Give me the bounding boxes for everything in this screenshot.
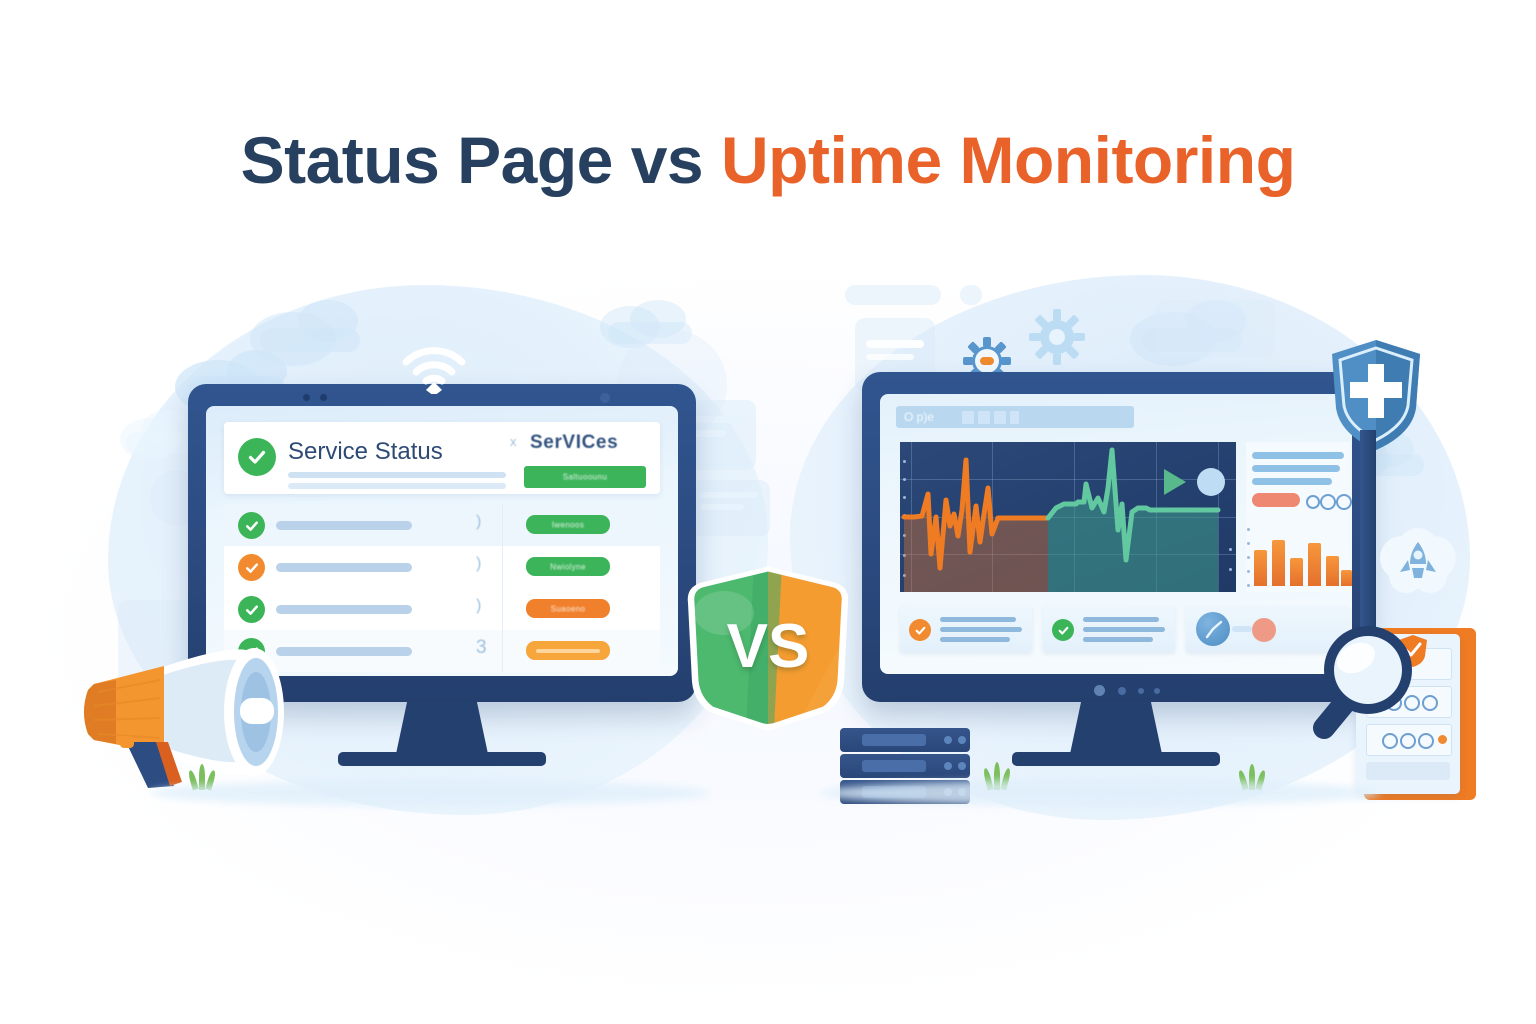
chart-series-svg: [900, 442, 1236, 592]
rocket-icon: [1376, 528, 1460, 607]
row-marker: 3: [476, 637, 487, 659]
bar-chart-bar: [1272, 540, 1285, 586]
skeleton-line: [940, 627, 1022, 632]
skeleton-line: [276, 605, 412, 614]
side-panel: [1246, 442, 1350, 592]
skeleton-line: [940, 637, 1010, 642]
status-header-title: Service Status: [288, 438, 443, 466]
status-pill: Nwiolyne: [526, 557, 610, 576]
column-divider: [502, 630, 503, 672]
skeleton-line: [276, 563, 412, 572]
table-row[interactable]: ) Suaoeno: [224, 588, 660, 630]
summary-card[interactable]: [900, 606, 1032, 652]
skeleton-line: [1252, 465, 1340, 472]
bezel-dot: [1138, 688, 1144, 694]
page-title-part-orange: Uptime Monitoring: [721, 123, 1295, 197]
check-circle-icon: [1052, 619, 1074, 641]
connector-line: [1232, 626, 1252, 632]
bezel-dot: [303, 394, 310, 401]
ghost-line: [866, 340, 924, 348]
circle-icon: [1320, 494, 1336, 510]
circle-icon: [1336, 494, 1352, 510]
check-circle-icon: [238, 438, 276, 476]
check-circle-icon: [238, 512, 265, 539]
wifi-icon: [398, 338, 470, 399]
shield-cross-icon: [1328, 338, 1424, 454]
status-pill-label: Nwiolyne: [526, 562, 610, 571]
server-unit: [840, 728, 970, 752]
bezel-dot: [320, 394, 327, 401]
uptime-screen: O p)e: [880, 394, 1352, 674]
vs-badge: VS: [684, 563, 852, 731]
status-header-card: Service Status x SerVICes Saltuoounu: [224, 422, 660, 494]
magnifier-icon: [1290, 618, 1420, 750]
ghost-line: [700, 492, 758, 498]
brand-logo-text: SerVICes: [530, 432, 618, 454]
brand-prefix-text: x: [510, 434, 517, 449]
column-divider: [502, 546, 503, 588]
ground-shadow: [150, 780, 710, 806]
server-unit: [840, 754, 970, 778]
monitor-stand-base: [1012, 752, 1220, 766]
check-circle-icon: [238, 554, 265, 581]
row-marker: ): [476, 513, 481, 531]
column-divider: [502, 588, 503, 630]
status-dot: [1438, 735, 1447, 744]
table-row[interactable]: ) Iwenoos: [224, 504, 660, 546]
gear-icon: [1028, 308, 1086, 371]
row-marker: ): [476, 555, 481, 573]
ghost-line: [700, 504, 744, 510]
ground-shadow: [820, 780, 1380, 806]
ghost-dot: [960, 285, 982, 305]
bezel-dot: [1118, 687, 1126, 695]
gauge-icon: [1196, 612, 1230, 646]
clipboard-row: [1366, 762, 1450, 780]
page-title-part-dark: Status Page vs: [241, 123, 721, 197]
table-row[interactable]: ) Nwiolyne: [224, 546, 660, 588]
search-bar[interactable]: O p)e: [896, 406, 1134, 428]
bar-chart-bar: [1308, 543, 1321, 586]
status-badge: [1252, 493, 1300, 507]
status-action-button[interactable]: Saltuoounu: [524, 466, 646, 488]
monitor-stand-neck: [1070, 702, 1162, 754]
page-title: Status Page vs Uptime Monitoring: [0, 122, 1536, 198]
status-pill-label: Suaoeno: [526, 604, 610, 613]
row-marker: ): [476, 597, 481, 615]
check-circle-icon: [909, 619, 931, 641]
ghost-line: [866, 354, 914, 360]
status-pill: Suaoeno: [526, 599, 610, 618]
skeleton-line: [1252, 478, 1332, 485]
skeleton-line: [1083, 637, 1153, 642]
bar-chart-bar: [1290, 558, 1303, 586]
bezel-dot: [600, 393, 610, 403]
skeleton-line: [1083, 627, 1165, 632]
circle-icon: [1422, 695, 1438, 711]
status-pill: Iwenoos: [526, 515, 610, 534]
skeleton-line: [288, 483, 506, 489]
skeleton-line: [940, 617, 1016, 622]
summary-card[interactable]: [1043, 606, 1175, 652]
skeleton-line: [1083, 617, 1159, 622]
status-dot: [1252, 618, 1276, 642]
uptime-chart: [900, 442, 1236, 592]
status-pill-bar: [536, 649, 600, 653]
circle-icon: [1306, 495, 1320, 509]
ghost-card: [1155, 300, 1275, 358]
check-circle-icon: [238, 596, 265, 623]
circle-icon: [1418, 733, 1434, 749]
column-divider: [502, 504, 503, 546]
bezel-dot: [1094, 685, 1105, 696]
chart-marker-dot: [1197, 468, 1225, 496]
status-action-label: Saltuoounu: [524, 473, 646, 482]
illustration-canvas: Status Page vs Uptime Monitoring: [0, 0, 1536, 1024]
search-input-value: O p)e: [904, 410, 934, 424]
monitor-stand-neck: [396, 702, 488, 754]
ghost-line: [845, 285, 941, 305]
bezel-dot: [1154, 688, 1160, 694]
skeleton-line: [276, 521, 412, 530]
vs-badge-label: VS: [684, 611, 852, 682]
status-pill: [526, 641, 610, 660]
bar-chart-bar: [1326, 556, 1339, 586]
skeleton-line: [288, 472, 506, 478]
status-pill-label: Iwenoos: [526, 520, 610, 529]
play-triangle-icon: [1164, 469, 1186, 495]
monitor-stand-base: [338, 752, 546, 766]
bar-chart-bar: [1254, 550, 1267, 586]
bar-chart-bar: [1341, 570, 1352, 586]
